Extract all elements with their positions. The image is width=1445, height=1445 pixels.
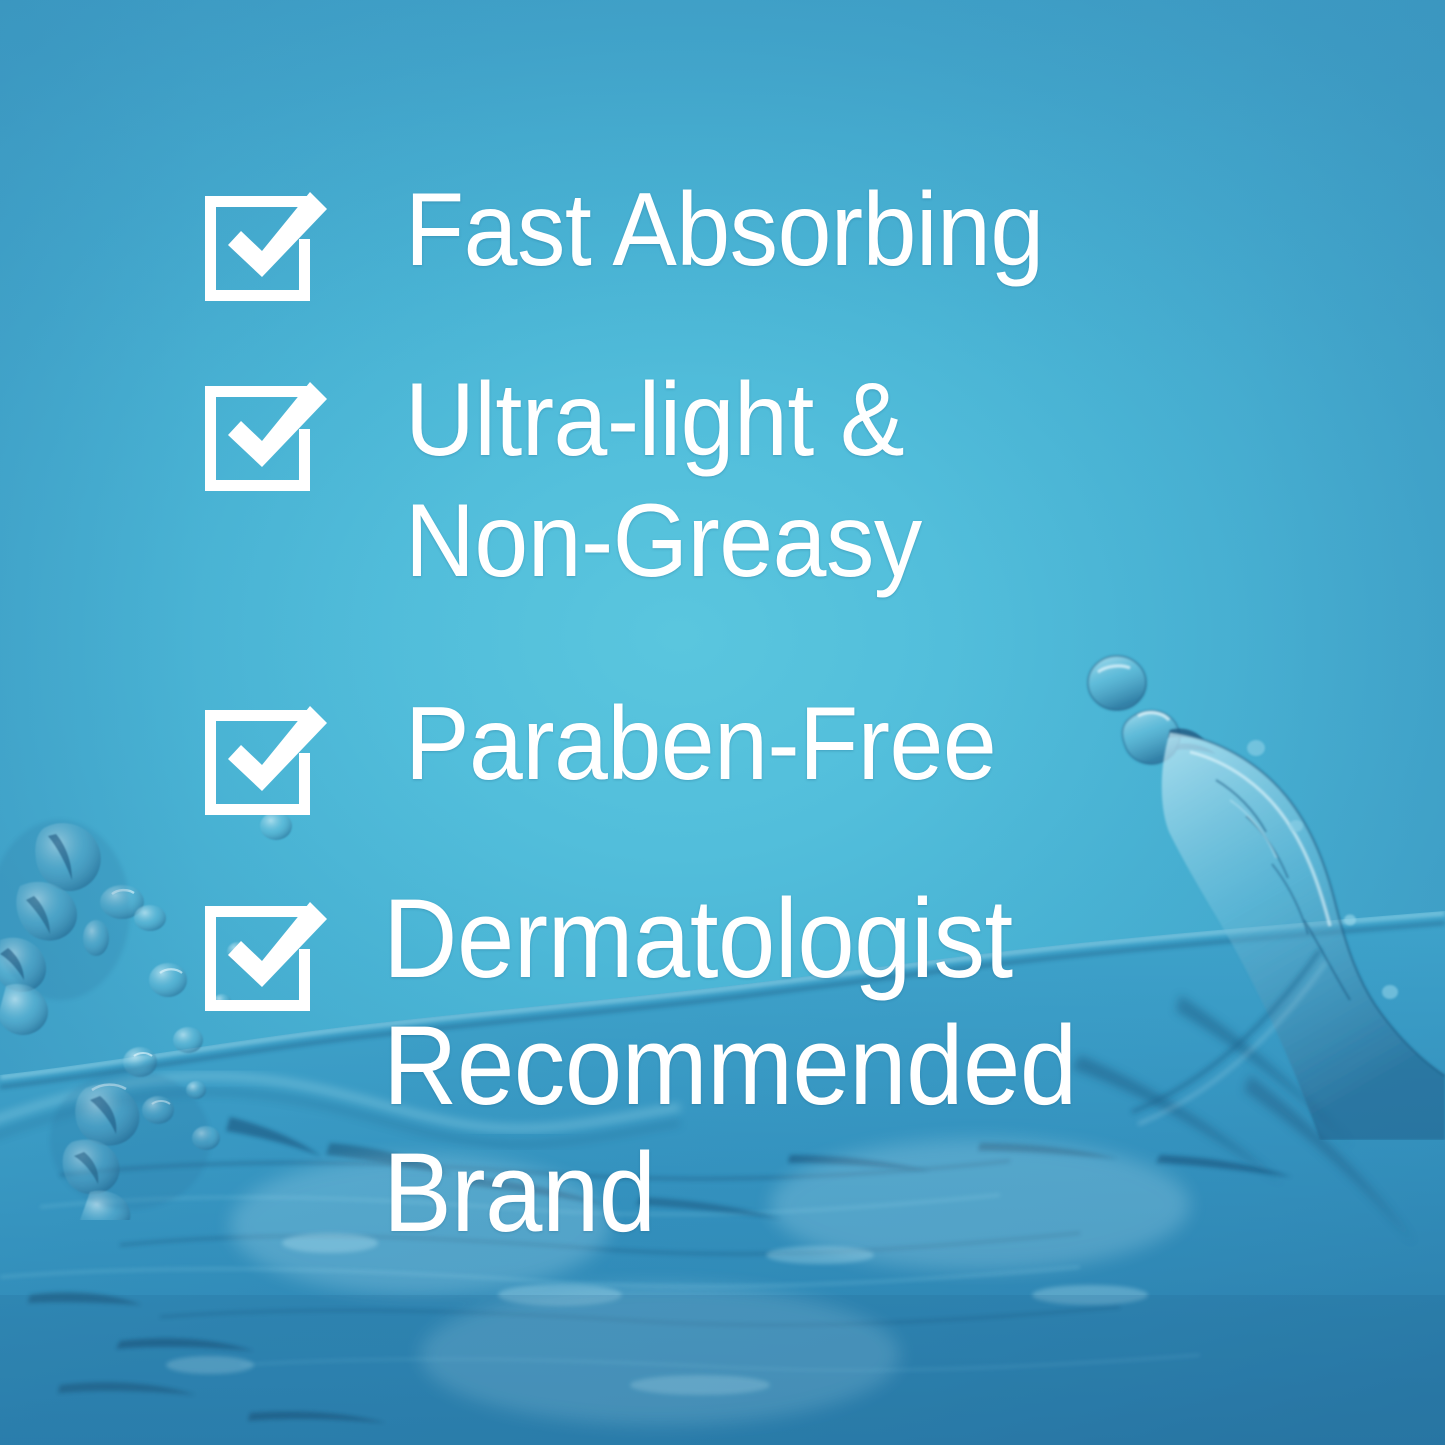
- feature-list: Fast Absorbing Ultra-light & Non-Greasy …: [0, 0, 1445, 1445]
- feature-item: Fast Absorbing: [200, 183, 1092, 303]
- checkbox-checked-icon: [200, 701, 332, 817]
- feature-item: Paraben-Free: [200, 697, 1041, 817]
- feature-label: Paraben-Free: [405, 684, 996, 805]
- checkbox-checked-icon: [200, 897, 332, 1013]
- feature-label: Dermatologist Recommended Brand: [383, 875, 1077, 1256]
- product-feature-poster: Fast Absorbing Ultra-light & Non-Greasy …: [0, 0, 1445, 1445]
- checkbox-checked-icon: [200, 187, 332, 303]
- feature-item: Ultra-light & Non-Greasy: [200, 373, 961, 602]
- checkbox-checked-icon: [200, 377, 332, 493]
- feature-item: Dermatologist Recommended Brand: [200, 893, 1137, 1256]
- feature-label: Ultra-light & Non-Greasy: [405, 360, 922, 602]
- feature-label: Fast Absorbing: [405, 170, 1044, 291]
